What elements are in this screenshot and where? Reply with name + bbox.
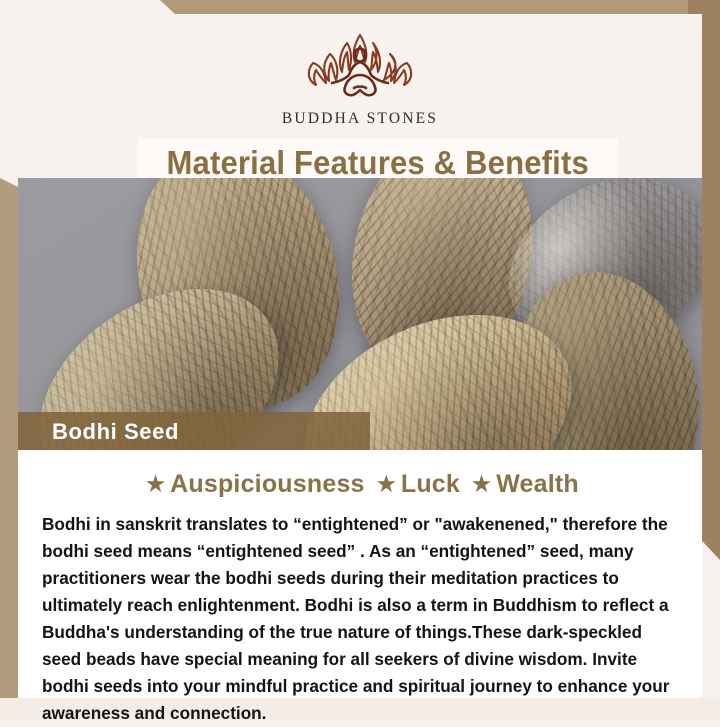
infographic-page: BUDDHA STONES Material Features & Benefi… bbox=[0, 0, 720, 720]
benefit-label-luck: Luck bbox=[401, 470, 460, 498]
benefit-label-wealth: Wealth bbox=[496, 470, 579, 498]
benefit-label-auspiciousness: Auspiciousness bbox=[170, 470, 365, 498]
photo-caption-text: Bodhi Seed bbox=[52, 419, 179, 445]
brand-name: BUDDHA STONES bbox=[282, 110, 438, 128]
content-panel: ★Auspiciousness ★Luck ★Wealth Bodhi in s… bbox=[18, 450, 702, 698]
star-icon: ★ bbox=[472, 473, 491, 496]
star-icon: ★ bbox=[146, 473, 165, 496]
benefits-subheading: ★Auspiciousness ★Luck ★Wealth bbox=[18, 450, 702, 499]
description-paragraph: Bodhi in sanskrit translates to “entight… bbox=[42, 511, 680, 727]
star-icon: ★ bbox=[377, 473, 396, 496]
header-section: BUDDHA STONES Material Features & Benefi… bbox=[18, 14, 702, 178]
lotus-meditation-figure-icon bbox=[285, 30, 435, 104]
photo-caption-band: Bodhi Seed bbox=[18, 412, 370, 450]
page-title: Material Features & Benefits bbox=[167, 144, 589, 182]
product-photo: Bodhi Seed bbox=[18, 178, 702, 450]
brand-logo: BUDDHA STONES bbox=[18, 30, 702, 128]
